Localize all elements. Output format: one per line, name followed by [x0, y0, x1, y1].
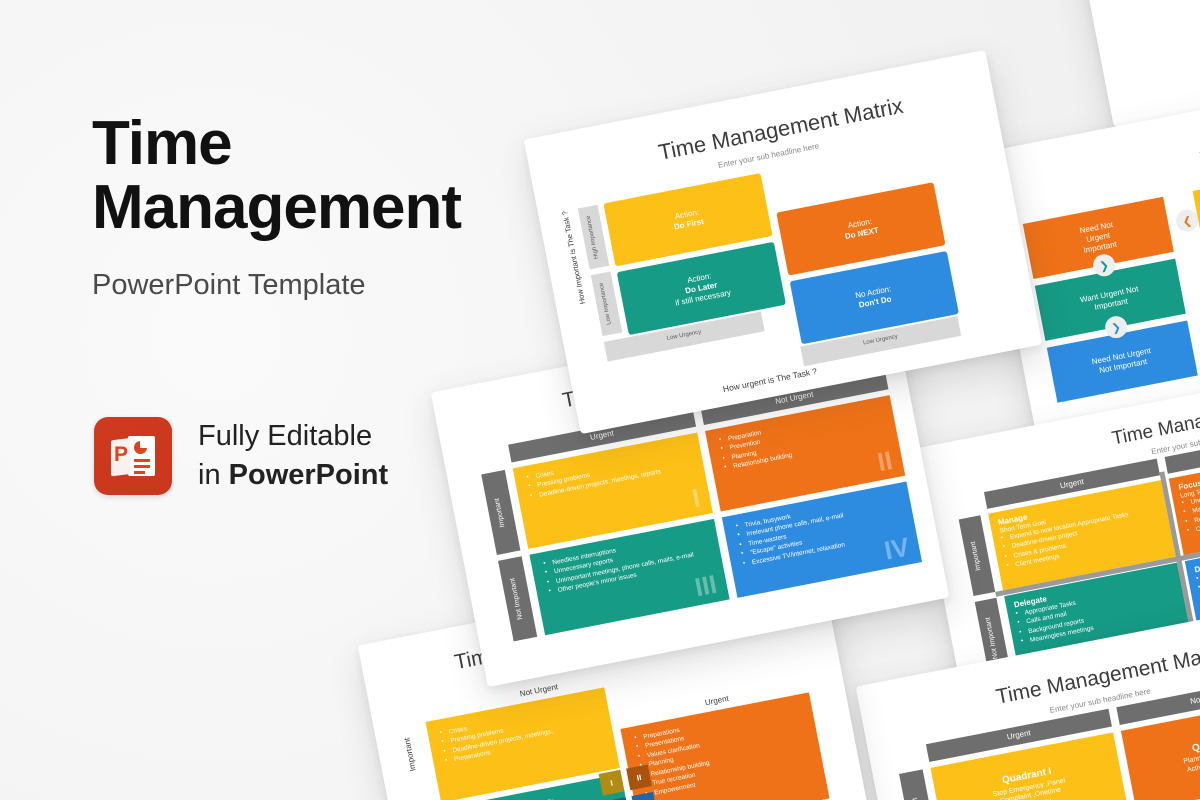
slide4-rightrow-0-label: Need Urgent Important	[1193, 164, 1200, 246]
page-title-line-1: Time	[92, 112, 522, 176]
fully-editable-badge: P Fully Editable in PowerPoint	[94, 417, 388, 495]
page-background: Important (significant to your plan) Not…	[0, 0, 1200, 800]
powerpoint-icon-line-2	[134, 465, 150, 468]
page-subtitle: PowerPoint Template	[92, 269, 522, 302]
page-title-line-2: Management	[92, 176, 522, 240]
badge-line-2-prefix: in	[198, 459, 229, 491]
badge-line-1: Fully Editable	[198, 417, 388, 456]
slide3-col-1-header: Not Urgent	[519, 682, 559, 698]
slide3-numeral-1: I	[599, 770, 625, 796]
badge-line-2-bold: PowerPoint	[229, 459, 389, 491]
powerpoint-icon-line-3	[134, 471, 145, 474]
slide2-q1-numeral: II	[875, 445, 895, 478]
slide-card-7[interactable]: Important (significant to your plan) Not…	[1072, 0, 1200, 127]
slide3-col-2-header: Urgent	[704, 694, 729, 707]
slide5-row-1-header: Important	[959, 515, 995, 596]
powerpoint-icon: P	[94, 417, 172, 495]
badge-text: Fully Editable in PowerPoint	[198, 417, 388, 495]
powerpoint-icon-line-1	[134, 459, 150, 462]
slide3-numeral-2: II	[626, 764, 652, 790]
page-title: Time Management	[92, 112, 522, 241]
slide1-axis-x-label: How urgent is The Task ?	[722, 366, 818, 394]
slide2-q0-numeral: I	[690, 482, 703, 514]
slide6-q1-heading: Quadrant II	[1191, 733, 1200, 755]
slide3-row-1-header: Important	[402, 737, 417, 772]
hero-panel: Time Management PowerPoint Template	[92, 112, 522, 302]
slide2-q2-numeral: III	[692, 569, 719, 604]
slide-card-1[interactable]: Time Management Matrix Enter your sub he…	[524, 50, 1043, 434]
powerpoint-icon-letter: P	[114, 444, 128, 465]
badge-line-2: in PowerPoint	[198, 456, 388, 495]
